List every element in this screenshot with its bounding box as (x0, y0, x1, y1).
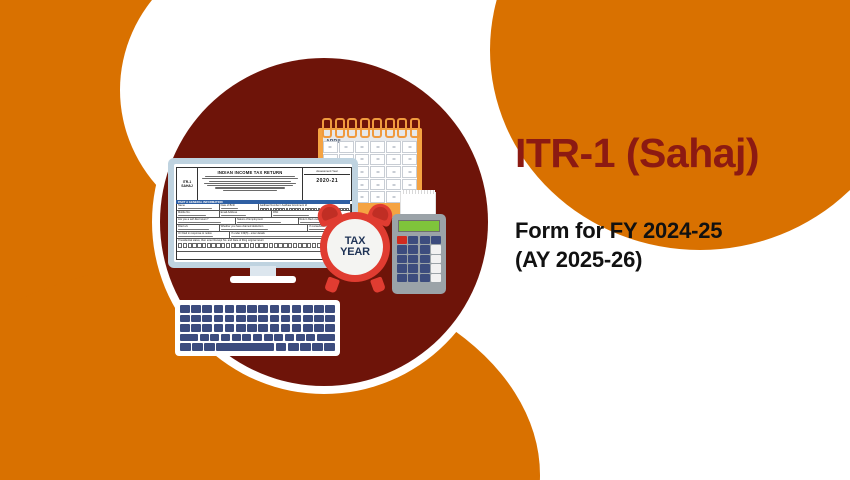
keyboard-key (325, 315, 335, 323)
keyboard-key (200, 334, 209, 342)
keyboard-key (300, 343, 311, 351)
form-input-box (264, 243, 268, 249)
form-cell: Filed u/s (177, 225, 220, 231)
calendar-day-cell (402, 166, 417, 178)
keyboard-key (281, 324, 291, 332)
form-cell: Date of Birth (220, 204, 259, 210)
form-input-box (188, 243, 192, 249)
keyboard-key (180, 343, 191, 351)
keyboard-key (281, 315, 291, 323)
keyboard-row (180, 315, 335, 323)
calendar-day-cell (402, 179, 417, 191)
form-cell-label: Name (178, 205, 218, 208)
form-input-box (207, 243, 211, 249)
keyboard-key (191, 315, 201, 323)
calendar-ring (410, 118, 420, 138)
calendar-ring (385, 118, 395, 138)
keyboard-key (247, 315, 257, 323)
calendar-day-cell (370, 191, 385, 203)
keyboard-key (264, 334, 273, 342)
keyboard-key (288, 343, 299, 351)
form-text-line (205, 176, 295, 177)
form-text-line (202, 178, 298, 179)
alarm-clock-icon: TAX YEAR (316, 204, 394, 292)
keyboard-key (253, 334, 262, 342)
clock-foot-right (370, 276, 386, 293)
form-logo: ITR-1 SAHAJ (177, 168, 198, 200)
form-input-box (293, 243, 297, 249)
keyboard-key (312, 343, 323, 351)
calendar-day-cell (323, 141, 338, 153)
keyboard-key (292, 324, 302, 332)
calculator-key (397, 255, 407, 263)
calculator-key (408, 255, 418, 263)
form-text-line (223, 190, 277, 191)
form-input-box (221, 243, 225, 249)
keyboard-key (324, 343, 335, 351)
keyboard-key (204, 343, 215, 351)
keyboard-key (202, 305, 212, 313)
calculator-key (397, 274, 407, 282)
calculator-keypad (397, 236, 441, 282)
form-filler-line (178, 222, 221, 223)
calendar-ring (397, 118, 407, 138)
calculator-key (408, 245, 418, 253)
keyboard-key (317, 334, 335, 342)
keyboard-key (292, 315, 302, 323)
keyboard-key (180, 315, 190, 323)
calculator-key (431, 274, 441, 282)
calendar-day-cell (370, 141, 385, 153)
form-input-box (202, 243, 206, 249)
form-input-box (274, 243, 278, 249)
form-cell: Or Filed in response to notice (177, 232, 230, 238)
form-filler-line (178, 208, 212, 209)
keyboard-key (202, 324, 212, 332)
keyboard-key (214, 324, 224, 332)
itr1-banner: APRIL ITR-1 SAHAJ INDIAN INCOME TAX RETU… (0, 0, 850, 480)
calculator-key (420, 264, 430, 272)
keyboard-keys (180, 305, 335, 351)
calculator-icon (392, 208, 446, 300)
keyboard-row (180, 343, 335, 351)
clock-foot-left (324, 276, 340, 293)
keyboard-key (180, 324, 190, 332)
text-block: ITR-1 (Sahaj) Form for FY 2024-25 (AY 20… (515, 130, 835, 274)
keyboard-key (314, 305, 324, 313)
form-input-box (259, 243, 263, 249)
clock-face: TAX YEAR (327, 219, 383, 275)
form-cell-label: Mobile No. (178, 212, 218, 215)
keyboard-key (258, 315, 268, 323)
keyboard-key (303, 305, 313, 313)
calculator-key (420, 236, 430, 244)
keyboard-key (292, 305, 302, 313)
form-cell-label: Email Address (221, 212, 271, 215)
form-text-line (204, 183, 296, 184)
calendar-ring (372, 118, 382, 138)
keyboard-key (258, 324, 268, 332)
calculator-key (397, 236, 407, 244)
keyboard-key (247, 305, 257, 313)
calendar-day-cell (370, 179, 385, 191)
keyboard-key (191, 324, 201, 332)
calendar-day-cell (386, 154, 401, 166)
calculator-key (397, 245, 407, 253)
form-input-box (298, 243, 302, 249)
keyboard-key (270, 324, 280, 332)
keyboard-key (221, 334, 230, 342)
page-subtitle: Form for FY 2024-25 (AY 2025-26) (515, 216, 835, 274)
keyboard-key (214, 315, 224, 323)
keyboard-row (180, 305, 335, 313)
assessment-year-digits: 2020-21 (304, 178, 350, 184)
form-cell: Are you a self-filed return? (177, 218, 236, 224)
form-input-box (192, 243, 196, 249)
form-input-box (307, 243, 311, 249)
form-filler-line (178, 229, 209, 230)
form-cell-label: Are you a self-filed return? (178, 219, 234, 222)
form-filler-line (221, 229, 268, 230)
form-text-line (215, 187, 285, 188)
calendar-ring (347, 118, 357, 138)
keyboard-key (236, 315, 246, 323)
form-logo-text: ITR-1 SAHAJ (181, 180, 193, 188)
calendar-day-cell (386, 141, 401, 153)
keyboard-key (242, 334, 251, 342)
form-text-line (207, 185, 293, 186)
keyboard-key (180, 334, 198, 342)
assessment-year-digit: 1 (335, 178, 338, 184)
calendar-ring (322, 118, 332, 138)
form-filler-line (221, 215, 247, 216)
keyboard-key (274, 334, 283, 342)
keyboard-row (180, 324, 335, 332)
calculator-key (431, 264, 441, 272)
page-subtitle-line2: (AY 2025-26) (515, 245, 835, 274)
form-filler-line (237, 222, 281, 223)
page-title: ITR-1 (Sahaj) (515, 130, 835, 176)
form-filler-line (178, 215, 206, 216)
calculator-key (408, 274, 418, 282)
calculator-key (420, 255, 430, 263)
form-cell: Email Address (220, 211, 273, 217)
form-cell: Name (177, 204, 220, 210)
calculator-key (397, 264, 407, 272)
calculator-key (420, 245, 430, 253)
keyboard-key (192, 343, 203, 351)
form-title-paragraph-lines (200, 176, 300, 191)
keyboard-key (281, 305, 291, 313)
calculator-key (431, 255, 441, 263)
assessment-year-label: Assessment Year (304, 169, 350, 175)
keyboard-body (175, 300, 340, 356)
keyboard-key (247, 324, 257, 332)
form-input-box (226, 243, 230, 249)
keyboard-key (325, 305, 335, 313)
calendar-day-cell (339, 141, 354, 153)
keyboard-key (306, 334, 315, 342)
keyboard-key (214, 305, 224, 313)
calendar-ring (360, 118, 370, 138)
form-input-box (178, 243, 182, 249)
keyboard-key (225, 324, 235, 332)
calendar-day-cell (386, 179, 401, 191)
calculator-key (431, 236, 441, 244)
form-text-line (209, 181, 291, 182)
form-input-box (302, 243, 306, 249)
form-input-box (240, 243, 244, 249)
form-input-box (231, 243, 235, 249)
keyboard-key (216, 343, 274, 351)
keyboard-key (270, 315, 280, 323)
form-input-box (235, 243, 239, 249)
calendar-day-cell (402, 141, 417, 153)
form-input-box (245, 243, 249, 249)
form-filler-line (273, 215, 309, 216)
keyboard-key (303, 315, 313, 323)
form-input-box (197, 243, 201, 249)
monitor-base (230, 276, 296, 283)
keyboard-key (236, 305, 246, 313)
calendar-day-cell (355, 141, 370, 153)
calendar-ring (335, 118, 345, 138)
form-cell: Mobile No. (177, 211, 220, 217)
form-input-box (269, 243, 273, 249)
keyboard-key (210, 334, 219, 342)
form-header: ITR-1 SAHAJ INDIAN INCOME TAX RETURN Ass… (176, 167, 352, 201)
form-title-text: INDIAN INCOME TAX RETURN (200, 170, 300, 175)
form-cell-label: Whether you have claimed deduction (221, 226, 307, 229)
keyboard-key (296, 334, 305, 342)
calculator-key (431, 245, 441, 253)
keyboard-row (180, 334, 335, 342)
keyboard-key (225, 305, 235, 313)
keyboard-key (314, 324, 324, 332)
calendar-day-cell (386, 166, 401, 178)
form-input-box (211, 243, 215, 249)
keyboard (175, 300, 340, 360)
form-title-cell: INDIAN INCOME TAX RETURN (198, 168, 303, 200)
calendar-day-cell (370, 166, 385, 178)
keyboard-key (314, 315, 324, 323)
form-input-box (250, 243, 254, 249)
form-input-box (255, 243, 259, 249)
keyboard-key (285, 334, 294, 342)
form-cell-label: Filed u/s (178, 226, 218, 229)
keyboard-key (258, 305, 268, 313)
keyboard-key (270, 305, 280, 313)
form-cell: Nature of Employment (236, 218, 298, 224)
form-input-box (278, 243, 282, 249)
keyboard-key (303, 324, 313, 332)
calendar-day-cell (370, 154, 385, 166)
keyboard-key (276, 343, 287, 351)
keyboard-key (232, 334, 241, 342)
form-filler-line (178, 236, 213, 237)
form-input-box (288, 243, 292, 249)
form-input-box (283, 243, 287, 249)
calendar-spiral-rings (322, 118, 418, 134)
calendar-day-cell (386, 191, 401, 203)
clock-text-line2: YEAR (340, 247, 370, 258)
calendar-day-cell (402, 154, 417, 166)
form-input-box (216, 243, 220, 249)
keyboard-key (191, 305, 201, 313)
keyboard-key (202, 315, 212, 323)
calculator-display (398, 220, 440, 232)
form-cell-label: Nature of Employment (237, 219, 296, 222)
assessment-year-cell: Assessment Year 2020-21 (303, 168, 351, 200)
form-input-box (183, 243, 187, 249)
keyboard-key (225, 315, 235, 323)
form-logo-line2: SAHAJ (181, 184, 193, 188)
calculator-key (420, 274, 430, 282)
keyboard-key (325, 324, 335, 332)
form-section-bar-label: PART A GENERAL INFORMATION (178, 200, 223, 204)
calculator-key (408, 264, 418, 272)
form-filler-line (221, 208, 239, 209)
form-cell-label: Or Filed in response to notice (178, 233, 228, 236)
keyboard-key (180, 305, 190, 313)
keyboard-key (236, 324, 246, 332)
calculator-key (408, 236, 418, 244)
page-subtitle-line1: Form for FY 2024-25 (515, 216, 835, 245)
form-cell-label: Date of Birth (221, 205, 257, 208)
form-cell: Whether you have claimed deduction (220, 225, 309, 231)
